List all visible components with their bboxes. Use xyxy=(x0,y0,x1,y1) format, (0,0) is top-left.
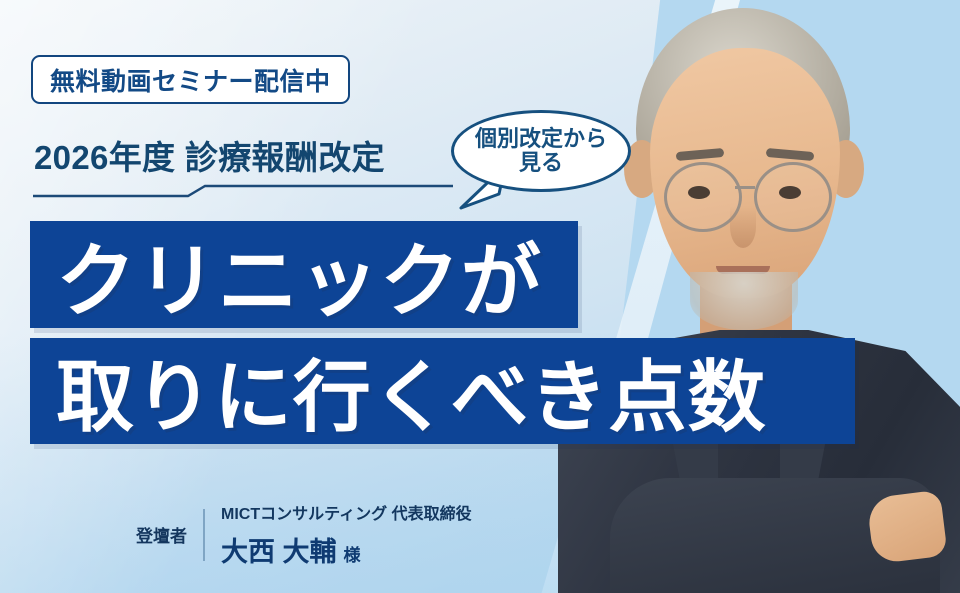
speech-bubble-line1: 個別改定から xyxy=(475,127,607,151)
headline-block-line1: クリニックが xyxy=(30,221,578,328)
seminar-banner: 無料動画セミナー配信中 2026年度 診療報酬改定 個別改定から 見る クリニッ… xyxy=(0,0,960,593)
speech-bubble-line2: 見る xyxy=(519,151,563,175)
speaker-name-line: 大西 大輔 様 xyxy=(221,530,472,569)
headline-line1-text: クリニックが xyxy=(56,217,542,333)
speaker-portrait-photo xyxy=(540,0,960,593)
speaker-name: 大西 大輔 xyxy=(221,530,337,569)
speech-bubble: 個別改定から 見る xyxy=(451,110,631,192)
glasses-lens-right-icon xyxy=(754,162,832,232)
portrait-nose xyxy=(730,206,756,248)
speaker-credit: 登壇者 MICTコンサルティング 代表取締役 大西 大輔 様 xyxy=(136,500,472,569)
streaming-badge: 無料動画セミナー配信中 xyxy=(31,55,350,104)
speaker-details: MICTコンサルティング 代表取締役 大西 大輔 様 xyxy=(221,500,472,569)
portrait-hand xyxy=(866,490,947,565)
glasses-bridge-icon xyxy=(735,186,755,189)
subhead-fiscal-year: 2026年度 診療報酬改定 xyxy=(34,131,385,179)
streaming-badge-label: 無料動画セミナー配信中 xyxy=(50,62,331,98)
speaker-divider xyxy=(203,509,205,561)
portrait-beard xyxy=(690,272,798,330)
subhead-underline xyxy=(33,180,453,204)
speaker-organization: MICTコンサルティング 代表取締役 xyxy=(221,500,472,524)
headline-block-line2: 取りに行くべき点数 xyxy=(30,338,855,444)
speaker-honorific: 様 xyxy=(344,541,361,566)
headline-line2-text: 取りに行くべき点数 xyxy=(56,335,766,447)
speaker-label: 登壇者 xyxy=(136,522,187,547)
